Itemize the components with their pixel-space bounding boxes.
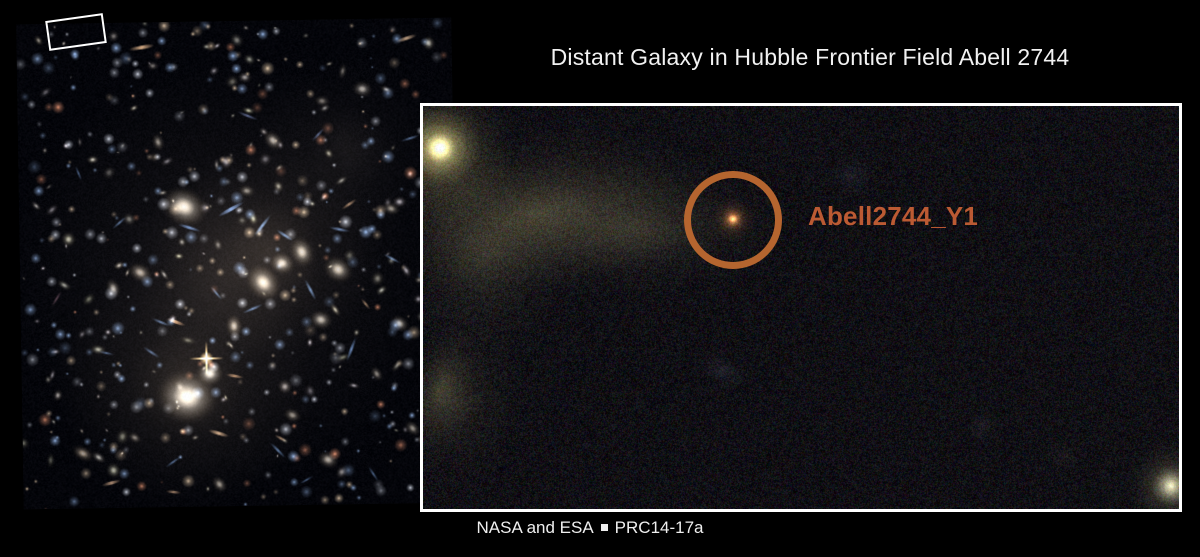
credit-agency: NASA and ESA xyxy=(476,518,593,537)
wide-field-cluster-image xyxy=(16,18,459,510)
image-stage: Distant Galaxy in Hubble Frontier Field … xyxy=(0,0,1200,557)
cluster-field-canvas xyxy=(16,18,459,510)
target-label: Abell2744_Y1 xyxy=(808,203,978,229)
page-title: Distant Galaxy in Hubble Frontier Field … xyxy=(470,44,1150,71)
target-circle-annotation xyxy=(684,171,782,269)
inset-detail-frame xyxy=(420,103,1182,512)
credit-line: NASA and ESAPRC14-17a xyxy=(420,518,760,538)
inset-clip xyxy=(423,106,1179,509)
inset-detail-canvas xyxy=(423,106,1179,509)
credit-release-id: PRC14-17a xyxy=(615,518,704,537)
square-bullet-icon xyxy=(601,524,608,531)
